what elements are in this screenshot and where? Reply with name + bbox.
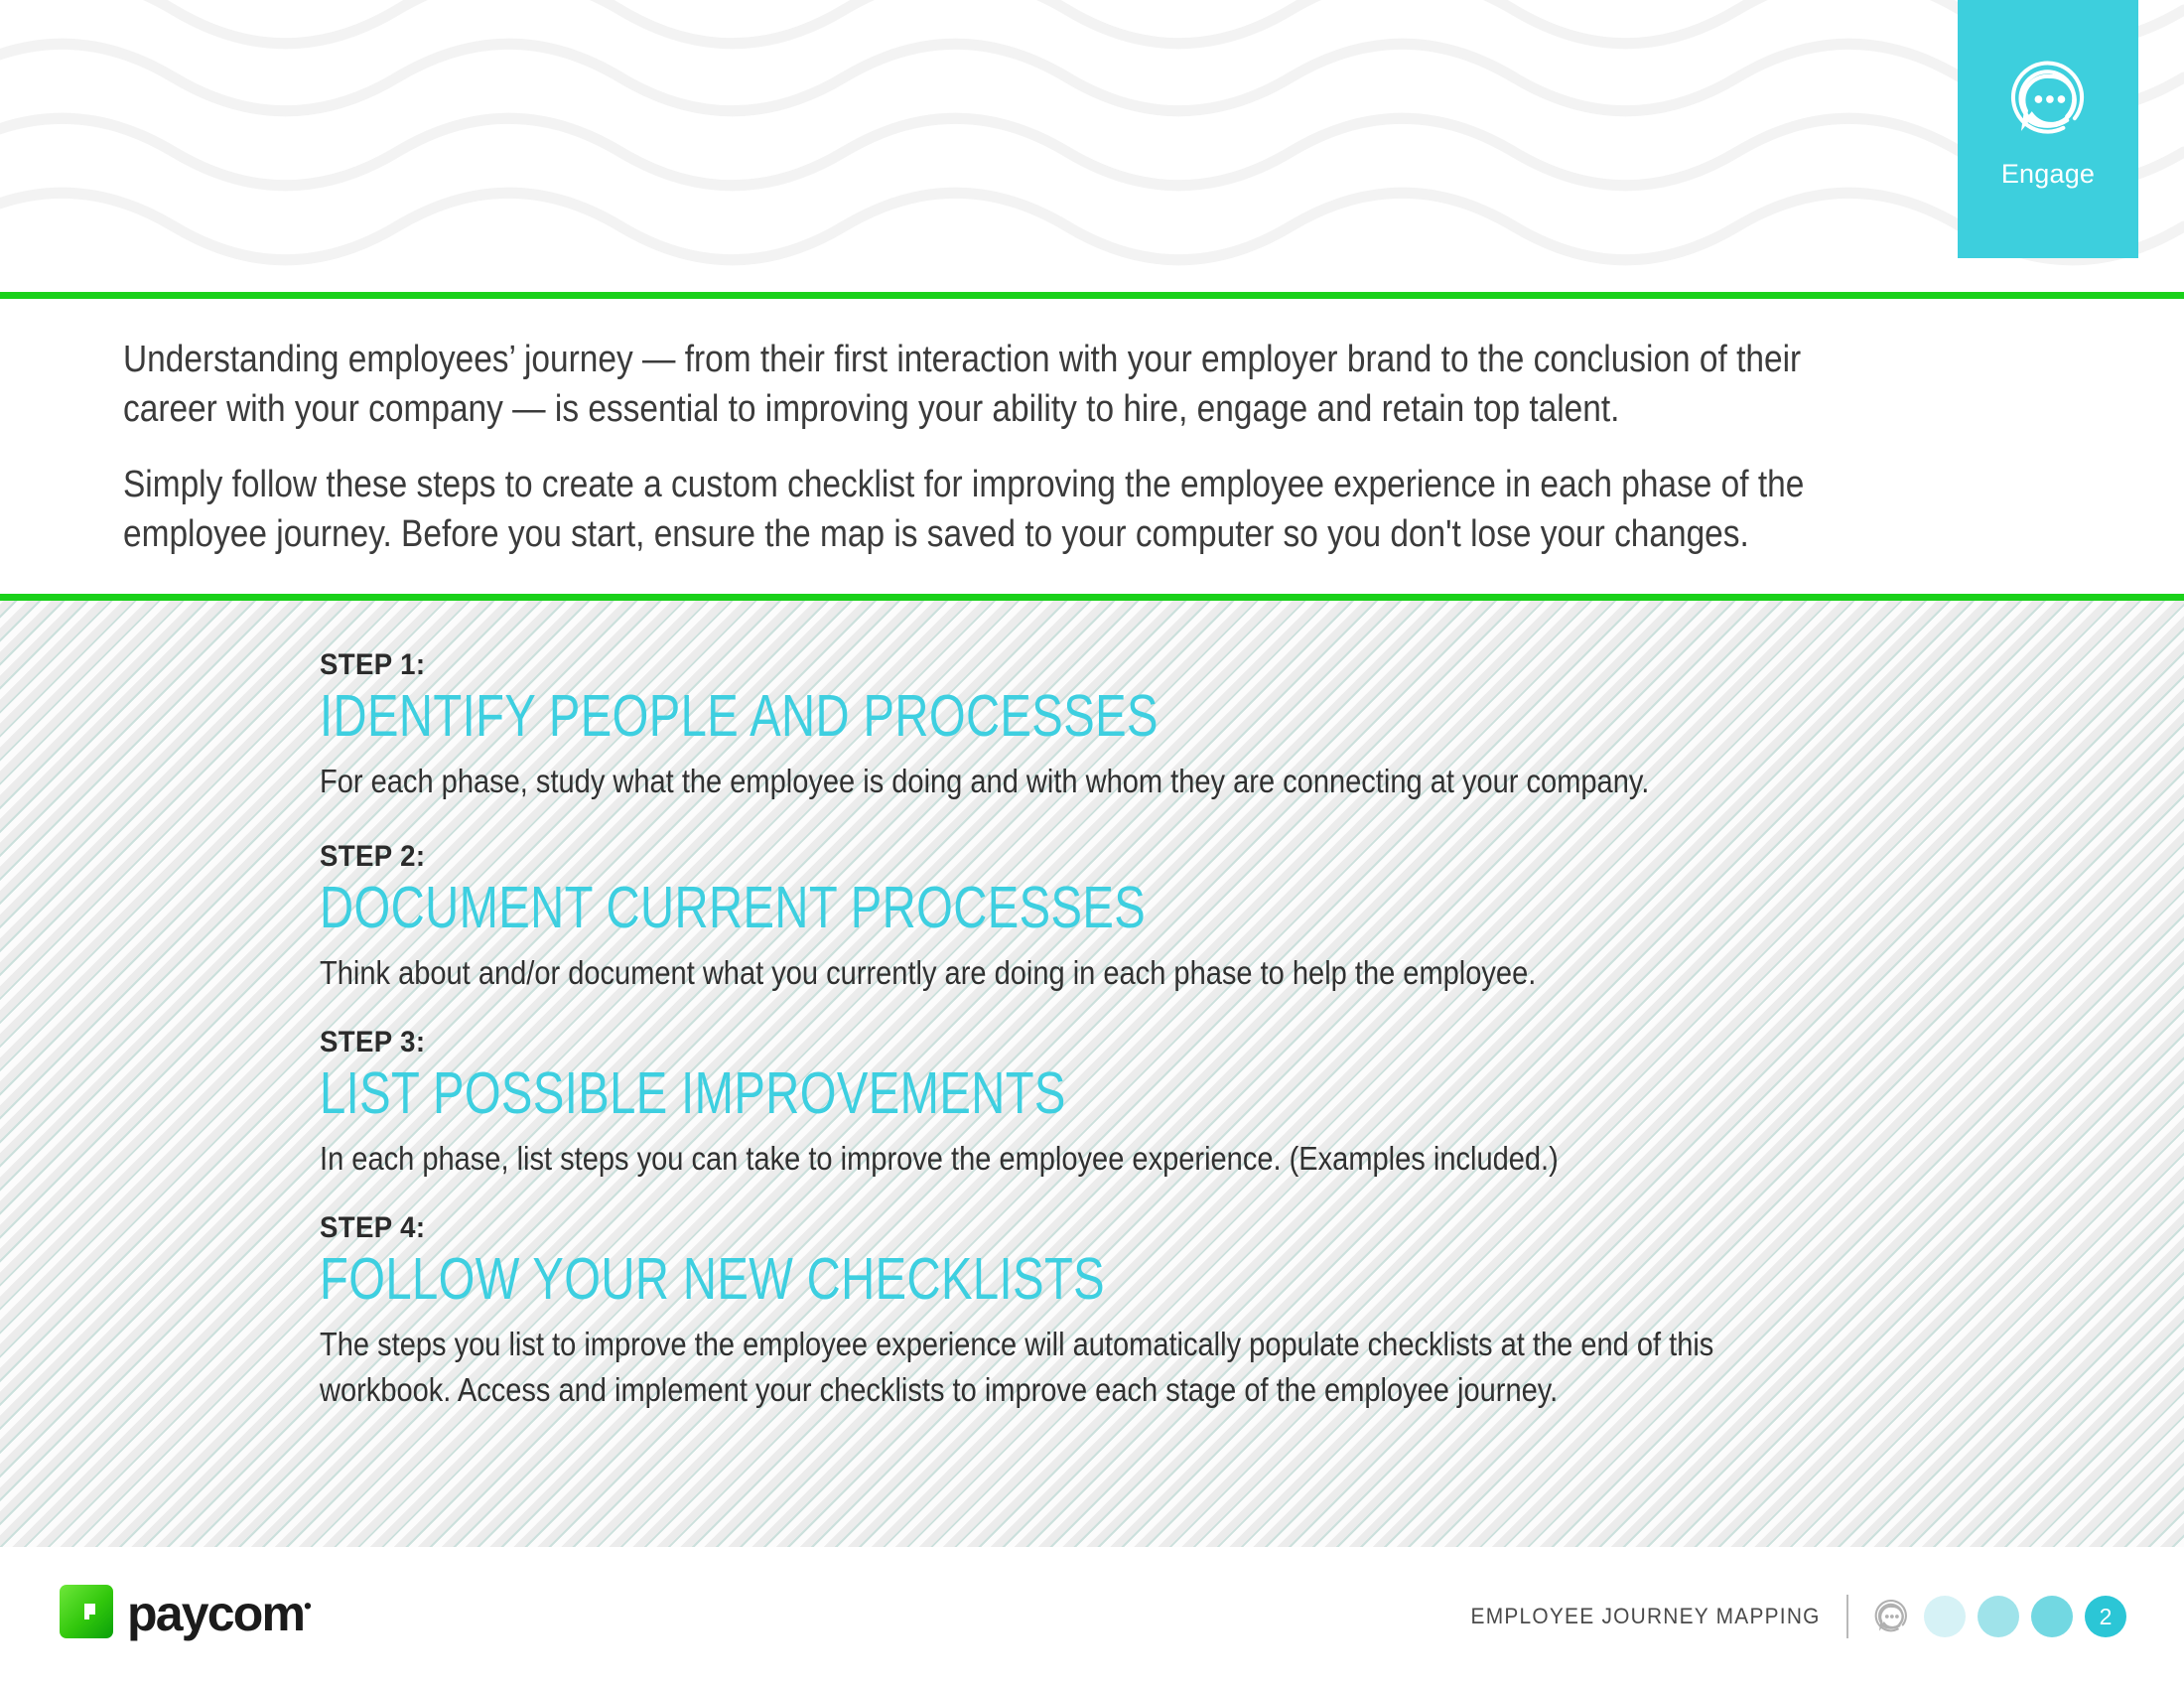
step-block-4: STEP 4: FOLLOW YOUR NEW CHECKLISTS The s… xyxy=(320,1211,2005,1412)
engage-tab-label: Engage xyxy=(2001,159,2095,190)
green-divider-top xyxy=(0,292,2184,299)
step-2-kicker: STEP 2: xyxy=(320,840,1870,874)
steps-panel: STEP 1: IDENTIFY PEOPLE AND PROCESSES Fo… xyxy=(0,601,2184,1547)
green-divider-bottom xyxy=(0,594,2184,601)
page-dot-4-current[interactable]: 2 xyxy=(2085,1596,2126,1637)
step-4-title: FOLLOW YOUR NEW CHECKLISTS xyxy=(320,1249,1668,1310)
current-page-number: 2 xyxy=(2100,1604,2113,1630)
page-dot-2[interactable] xyxy=(1978,1596,2019,1637)
step-block-3: STEP 3: LIST POSSIBLE IMPROVEMENTS In ea… xyxy=(320,1026,2005,1182)
engage-section-tab[interactable]: Engage xyxy=(1958,0,2138,258)
paycom-wordmark-text: paycom xyxy=(127,1586,304,1641)
intro-paragraph-2: Simply follow these steps to create a cu… xyxy=(123,460,1832,559)
intro-section: Understanding employees’ journey — from … xyxy=(0,299,2184,594)
step-3-title: LIST POSSIBLE IMPROVEMENTS xyxy=(320,1063,1668,1124)
page-header: Engage xyxy=(0,0,2184,295)
intro-paragraph-1: Understanding employees’ journey — from … xyxy=(123,335,1832,434)
paycom-logo-mark-icon xyxy=(60,1585,113,1638)
paycom-wordmark: paycom• xyxy=(127,1589,312,1638)
footer-meta: EMPLOYEE JOURNEY MAPPING 2 xyxy=(1452,1595,2126,1638)
page-dot-1[interactable] xyxy=(1924,1596,1966,1637)
engage-chat-bubble-icon xyxy=(2000,52,2096,147)
paycom-logo: paycom• xyxy=(60,1585,312,1638)
paycom-trademark: • xyxy=(304,1593,312,1618)
step-block-1: STEP 1: IDENTIFY PEOPLE AND PROCESSES Fo… xyxy=(320,648,2005,804)
step-4-kicker: STEP 4: xyxy=(320,1211,1870,1245)
step-3-kicker: STEP 3: xyxy=(320,1026,1870,1059)
step-1-description: For each phase, study what the employee … xyxy=(320,759,1803,804)
wave-pattern-decoration xyxy=(0,0,2184,295)
footer-document-title: EMPLOYEE JOURNEY MAPPING xyxy=(1471,1604,1821,1629)
step-2-description: Think about and/or document what you cur… xyxy=(320,950,1803,996)
step-3-description: In each phase, list steps you can take t… xyxy=(320,1136,1803,1182)
footer-vertical-divider xyxy=(1846,1595,1848,1638)
step-1-title: IDENTIFY PEOPLE AND PROCESSES xyxy=(320,686,1668,747)
engage-chat-bubble-icon-gray xyxy=(1870,1596,1912,1637)
page-dot-3[interactable] xyxy=(2031,1596,2073,1637)
step-block-2: STEP 2: DOCUMENT CURRENT PROCESSES Think… xyxy=(320,840,2005,996)
step-2-title: DOCUMENT CURRENT PROCESSES xyxy=(320,878,1668,938)
step-1-kicker: STEP 1: xyxy=(320,648,1870,682)
step-4-description: The steps you list to improve the employ… xyxy=(320,1322,1803,1412)
page-footer: paycom• EMPLOYEE JOURNEY MAPPING 2 xyxy=(0,1547,2184,1688)
